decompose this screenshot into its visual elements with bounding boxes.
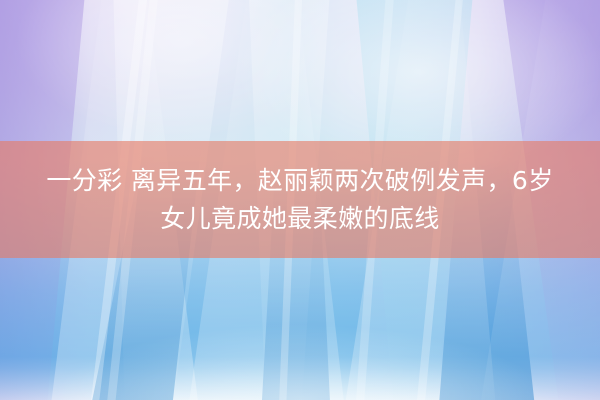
- headline-line-1: 一分彩 离异五年，赵丽颖两次破例发声，6岁: [46, 162, 553, 200]
- promo-banner: 一分彩 离异五年，赵丽颖两次破例发声，6岁 女儿竟成她最柔嫩的底线: [0, 0, 600, 400]
- headline-line-2: 女儿竟成她最柔嫩的底线: [160, 200, 439, 238]
- headline-band: 一分彩 离异五年，赵丽颖两次破例发声，6岁 女儿竟成她最柔嫩的底线: [0, 141, 600, 258]
